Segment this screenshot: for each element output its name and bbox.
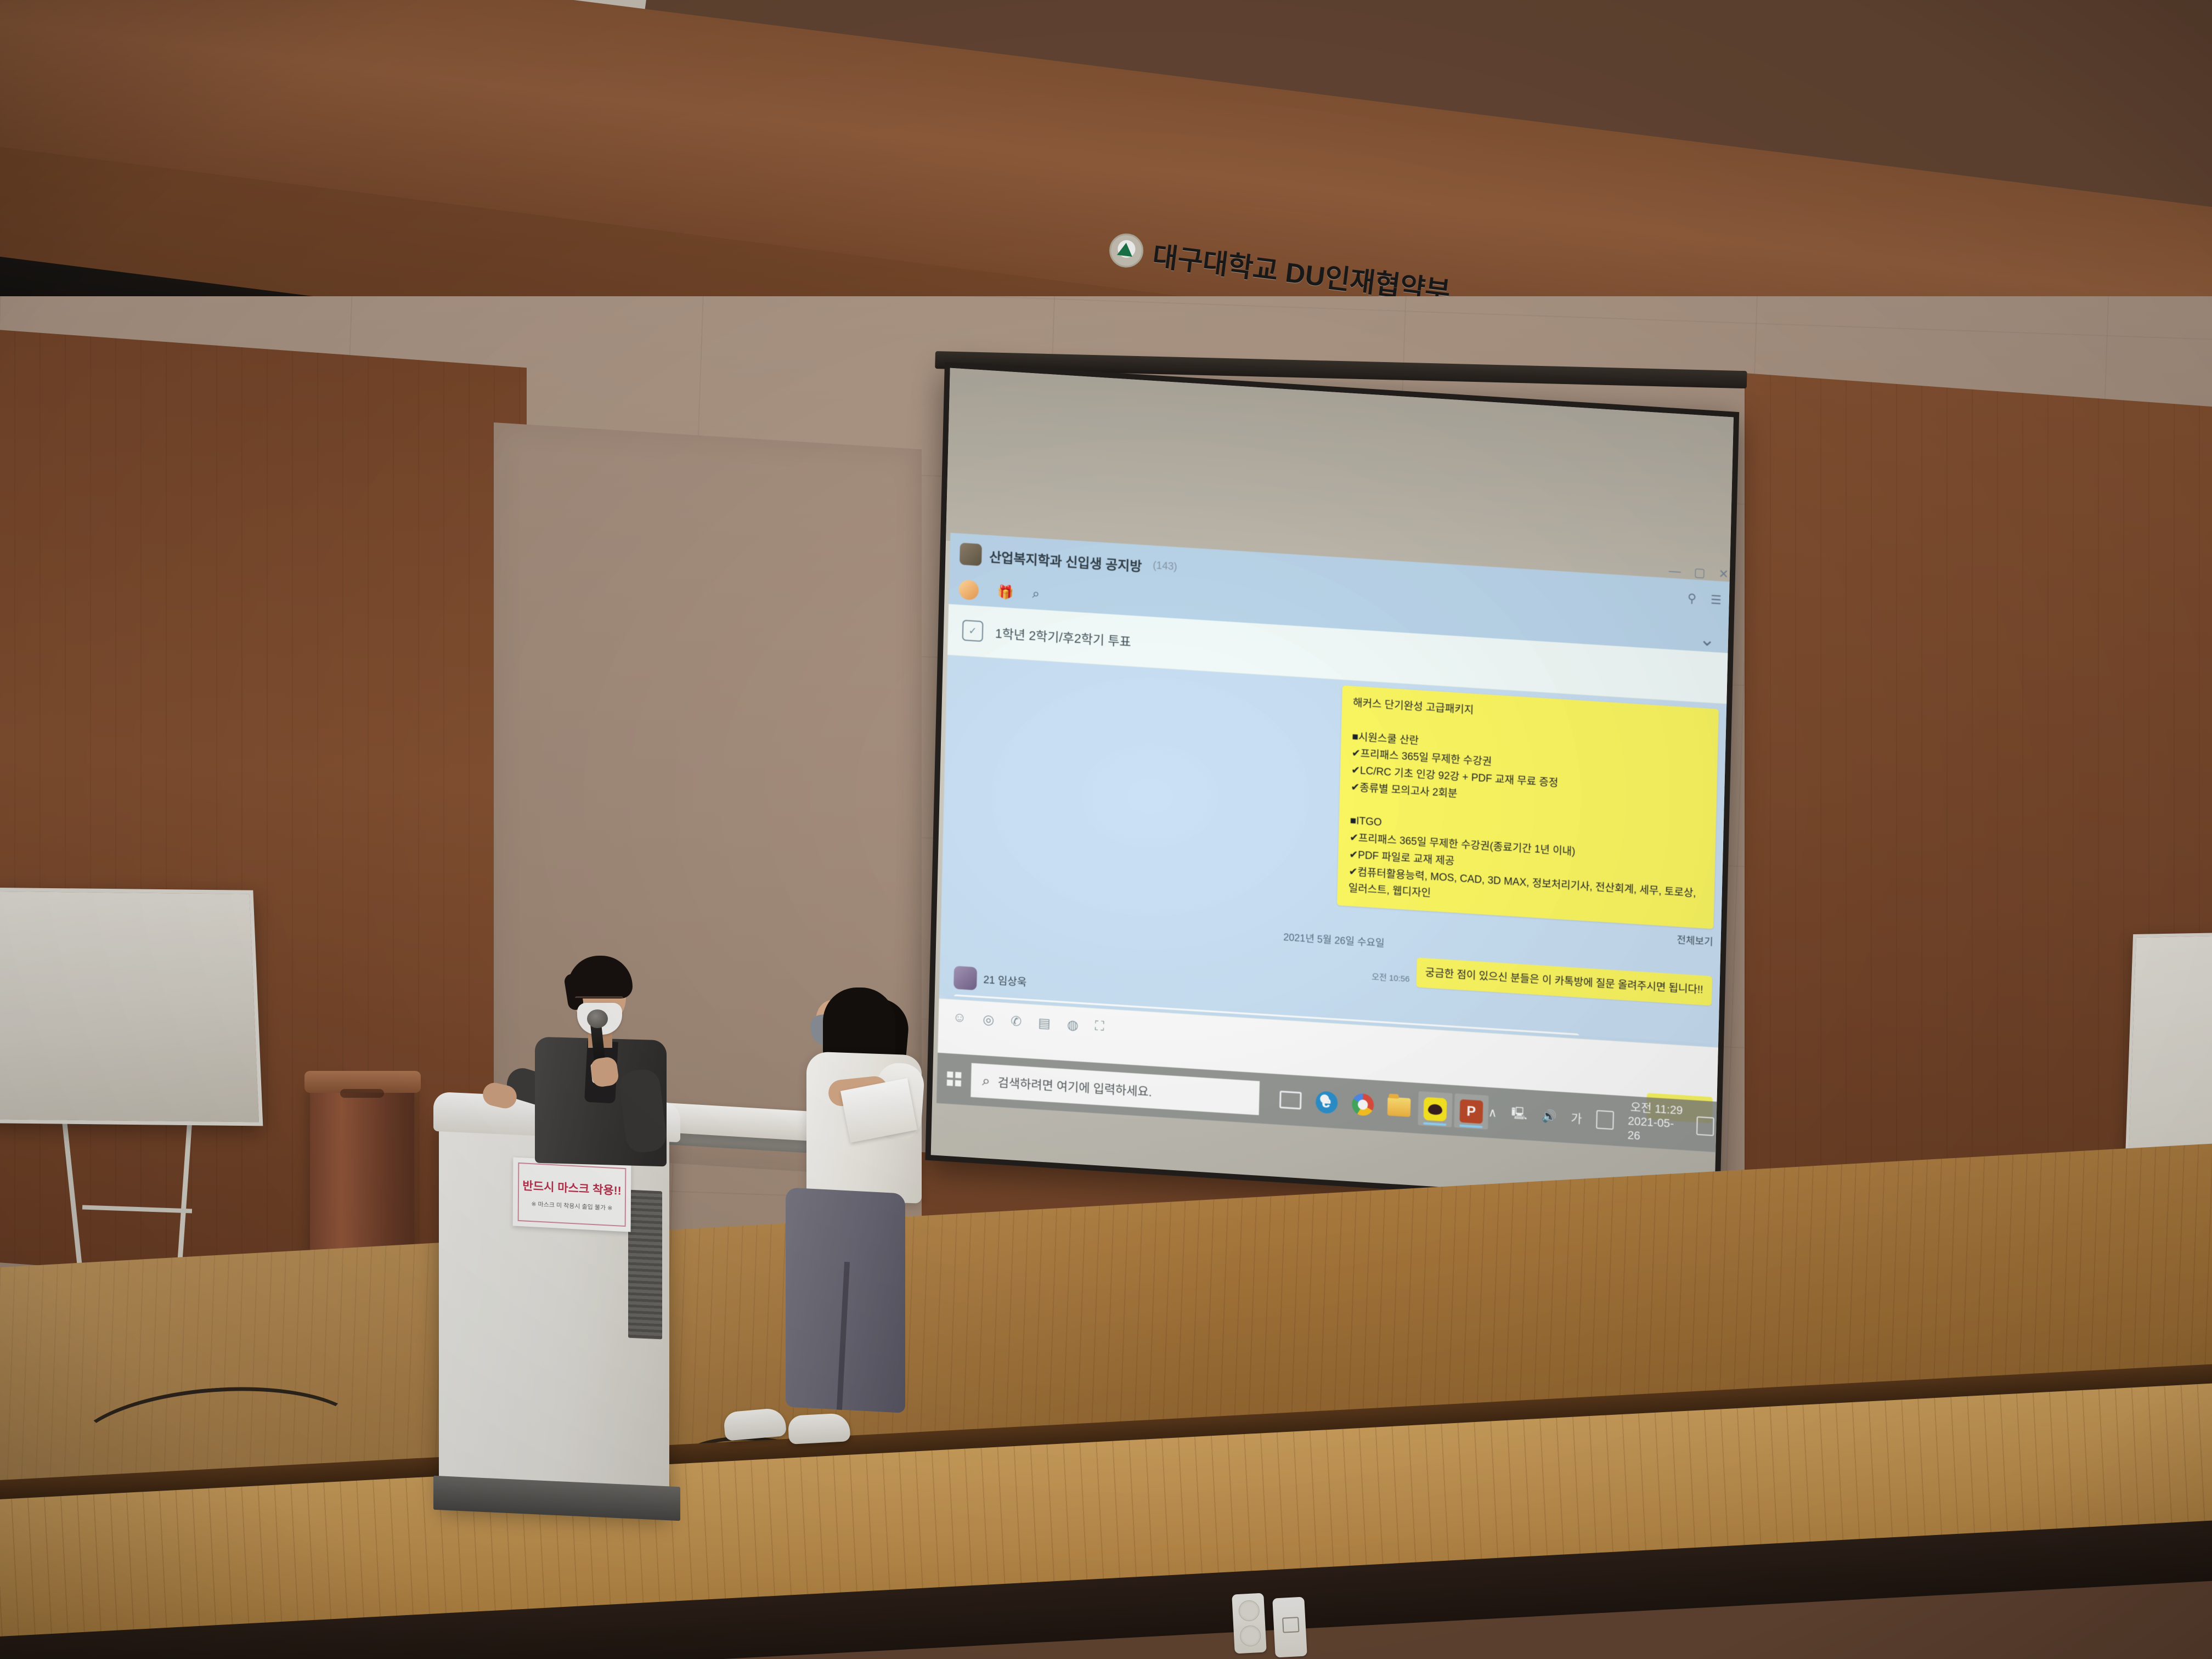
kakaotalk-window[interactable]: 산업복지학과 신입생 공지방 (143) — ▢ ✕ ⚲ ☰ 🎁 ⌕ (936, 533, 1734, 1153)
mask-notice-sub-text: ※ 마스크 미 착용시 출입 불가 ※ (531, 1199, 612, 1212)
google-chrome-icon (1351, 1093, 1374, 1116)
search-icon[interactable]: ⌕ (1032, 586, 1040, 602)
mask-notice-sign: 반드시 마스크 착용!! ※ 마스크 미 착용시 출입 불가 ※ (513, 1157, 631, 1232)
vote-icon: ✓ (962, 620, 984, 642)
chat-bubble-long: 해커스 단기완성 고급패키지 ■시원스쿨 산란 ✔프리패스 365일 무제한 수… (1337, 685, 1719, 929)
powerpoint-icon: P (1459, 1099, 1483, 1124)
chat-message-row: 해커스 단기완성 고급패키지 ■시원스쿨 산란 ✔프리패스 365일 무제한 수… (956, 662, 1719, 949)
ime-indicator[interactable]: 가 (1571, 1109, 1582, 1127)
room-avatar (960, 543, 982, 566)
view-all-link[interactable]: 전체보기 (1677, 932, 1713, 949)
task-view-icon (1279, 1091, 1302, 1110)
gift-icon[interactable]: 🎁 (997, 584, 1014, 601)
start-icon (947, 1071, 962, 1087)
podium-vent-grille (628, 1190, 662, 1340)
close-icon[interactable]: ✕ (1718, 567, 1729, 582)
taskbar-kakaotalk[interactable] (1418, 1091, 1452, 1127)
file-explorer-icon (1387, 1097, 1410, 1117)
photo-icon[interactable]: ◍ (1066, 1017, 1079, 1033)
room-title: 산업복지학과 신입생 공지방 (989, 546, 1142, 574)
mask-notice-main-text: 반드시 마스크 착용!! (522, 1177, 621, 1198)
task-view-button[interactable] (1273, 1082, 1307, 1118)
maximize-icon[interactable]: ▢ (1694, 565, 1705, 580)
university-logo-icon (1108, 232, 1145, 269)
emoji-icon[interactable]: ☺ (952, 1009, 966, 1026)
call-icon[interactable]: ✆ (1011, 1013, 1022, 1030)
chat-message-list[interactable]: 해커스 단기완성 고급패키지 ■시원스쿨 산란 ✔프리패스 365일 무제한 수… (939, 655, 1733, 1045)
projection-surface: 산업복지학과 신입생 공지방 (143) — ▢ ✕ ⚲ ☰ 🎁 ⌕ (931, 368, 1734, 1204)
auditorium-photo: 대구대학교 DU인재협약부 산업복지학과 신입생 공지방 (143) — ▢ ✕ (0, 0, 2212, 1659)
wall-outlet[interactable] (1232, 1593, 1267, 1654)
calendar-icon[interactable]: ▤ (1038, 1015, 1051, 1031)
user-avatar[interactable] (958, 579, 979, 600)
internet-explorer-icon (1315, 1091, 1338, 1114)
taskbar-chrome[interactable] (1345, 1087, 1380, 1123)
speaker-right-hand (590, 1056, 620, 1088)
avatar[interactable] (953, 966, 977, 990)
chevron-down-icon[interactable]: ⌄ (1699, 628, 1715, 651)
sticker-icon[interactable]: ◎ (983, 1012, 995, 1028)
wall-data-port[interactable] (1272, 1597, 1307, 1658)
assistant-shoe (723, 1407, 787, 1441)
search-placeholder: 검색하려면 여기에 입력하세요. (997, 1073, 1152, 1101)
taskbar-app-icons[interactable]: P (1273, 1082, 1488, 1130)
notification-icon[interactable] (1696, 1116, 1714, 1136)
taskbar-file-explorer[interactable] (1381, 1089, 1416, 1125)
room-header-actions[interactable]: ⚲ ☰ (1688, 591, 1722, 608)
search-icon: ⌕ (982, 1072, 990, 1090)
tray-chevron-icon[interactable]: ∧ (1488, 1105, 1497, 1120)
expand-icon[interactable]: ⛶ (1094, 1019, 1104, 1035)
outlet-socket (1238, 1600, 1260, 1622)
taskbar-search-box[interactable]: ⌕ 검색하려면 여기에 입력하세요. (970, 1063, 1259, 1115)
message-timestamp: 오전 10:56 (1372, 970, 1410, 986)
taskbar-internet-explorer[interactable] (1309, 1084, 1344, 1120)
projection-screen: 산업복지학과 신입생 공지방 (143) — ▢ ✕ ⚲ ☰ 🎁 ⌕ (925, 362, 1739, 1210)
sender-name: 21 임상욱 (983, 972, 1026, 989)
volume-icon[interactable]: 🔊 (1542, 1109, 1557, 1124)
clock[interactable]: 오전 11:29 2021-05-26 (1627, 1101, 1683, 1146)
pin-icon[interactable]: ⚲ (1688, 591, 1697, 606)
clock-date: 2021-05-26 (1627, 1114, 1683, 1145)
hamburger-icon[interactable]: ☰ (1711, 592, 1722, 607)
whiteboard-left (0, 888, 263, 1126)
microphone-head (587, 1009, 608, 1028)
system-tray[interactable]: ∧ 🖳 🔊 가 오전 11:29 2021-05-26 (1488, 1092, 1724, 1149)
taskbar-powerpoint[interactable]: P (1454, 1093, 1488, 1130)
assistant-shoe (788, 1413, 851, 1444)
window-controls[interactable]: — ▢ ✕ (1669, 563, 1729, 582)
room-member-count: (143) (1153, 560, 1177, 573)
minimize-icon[interactable]: — (1669, 563, 1681, 578)
trash-bin-slot (340, 1089, 384, 1098)
start-button[interactable] (937, 1071, 972, 1087)
kakaotalk-icon (1423, 1097, 1447, 1122)
network-icon[interactable]: 🖳 (1511, 1104, 1527, 1126)
outlet-socket (1239, 1625, 1261, 1647)
pinned-notice-text: 1학년 2학기/후2학기 투표 (995, 623, 1132, 650)
ime-mode-box-icon[interactable] (1596, 1110, 1614, 1130)
